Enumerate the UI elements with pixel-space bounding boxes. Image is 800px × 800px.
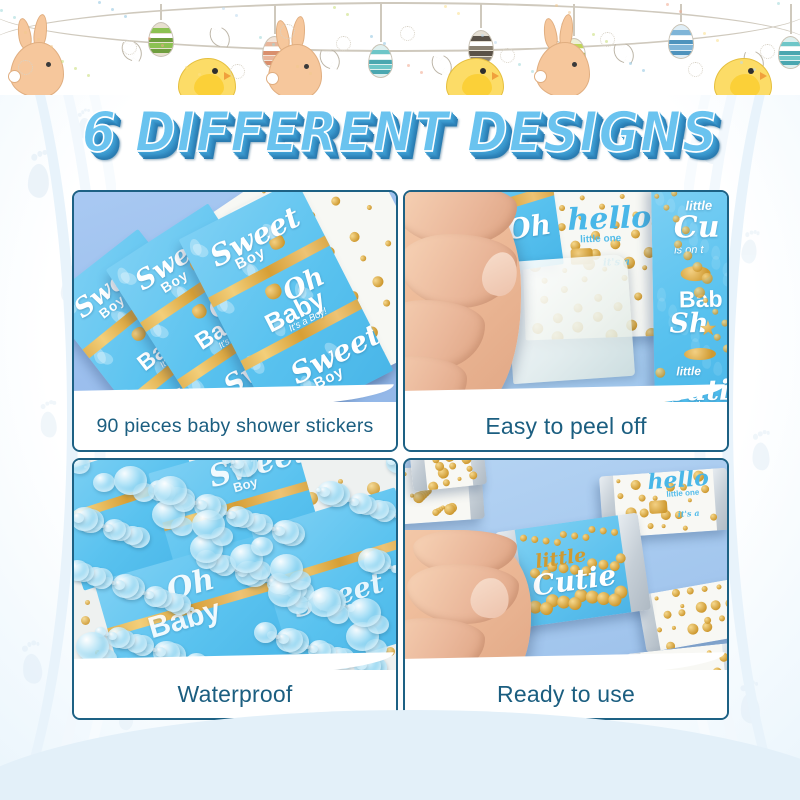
wrapped-candy-bar — [637, 577, 727, 653]
decor-dot — [568, 11, 571, 14]
water-droplet — [358, 548, 385, 573]
decor-dot — [37, 38, 40, 41]
decor-dot — [679, 10, 682, 13]
decor-dot — [716, 39, 719, 42]
egg-hanging-string — [380, 4, 382, 42]
flower-icon — [230, 64, 245, 79]
easter-banner — [0, 0, 800, 95]
decor-dot — [420, 71, 423, 74]
decor-dot — [592, 33, 595, 36]
decor-dot — [24, 31, 27, 34]
panel-pieces[interactable]: SweetBoyOhBabyIt's a Boy!SweetBoySweetBo… — [72, 190, 398, 452]
hand-holding-wrapped-candy-bar-photo: hellolittle oneit's alittleCutie — [405, 460, 727, 678]
decor-dot — [753, 68, 756, 71]
mustache-icon — [684, 348, 716, 361]
water-droplet-large — [154, 476, 187, 505]
water-droplet — [350, 498, 359, 506]
bottom-wave-decoration — [0, 680, 800, 800]
water-droplet-large — [192, 510, 225, 539]
page-title-wrap: 6 DIFFERENT DESIGNS — [0, 104, 800, 161]
water-droplet — [145, 591, 154, 599]
decor-dot — [259, 36, 262, 39]
bar-label — [423, 460, 474, 490]
chick-icon — [714, 58, 776, 95]
decor-dot — [222, 7, 225, 10]
egg-hanging-string — [480, 4, 482, 28]
easter-egg — [668, 24, 694, 59]
water-droplet-large — [270, 554, 303, 583]
panel-caption: Easy to peel off — [405, 402, 727, 450]
flower-icon — [122, 40, 137, 55]
decor-dot — [370, 35, 373, 38]
decor-dot — [161, 44, 164, 47]
sticker-word-little-one: little one — [580, 233, 621, 245]
flower-icon — [760, 44, 775, 59]
flower-icon — [280, 24, 295, 39]
easter-egg — [368, 44, 393, 78]
flower-icon — [336, 36, 351, 51]
egg-hanging-string — [680, 4, 682, 22]
easter-egg — [778, 36, 800, 69]
flower-icon — [400, 26, 415, 41]
sticker-word-hello: hello — [567, 200, 652, 238]
water-droplet — [316, 488, 321, 493]
water-droplet — [254, 622, 277, 643]
decor-dot — [457, 12, 460, 15]
fanned-sticker-sheets-photo: SweetBoyOhBabyIt's a Boy!SweetBoySweetBo… — [74, 192, 396, 410]
decor-dot — [740, 61, 743, 64]
egg-hanging-string — [573, 4, 575, 36]
decor-dot — [198, 73, 201, 76]
water-droplet-large — [114, 466, 147, 495]
decor-dot — [494, 41, 497, 44]
decor-dot — [703, 32, 706, 35]
page-title: 6 DIFFERENT DESIGNS — [82, 101, 718, 165]
panel-peel[interactable]: hellolittle oneit's alittleCuis on tBabS… — [403, 190, 729, 452]
peeled-backing-layer — [505, 254, 635, 384]
easter-egg — [148, 22, 174, 57]
water-droplet-large — [308, 588, 341, 617]
decor-dot — [185, 66, 188, 69]
water-droplet — [309, 645, 318, 653]
decor-dot — [531, 70, 534, 73]
decor-dot — [124, 15, 127, 18]
decor-dot — [309, 72, 312, 75]
bunny-icon — [536, 40, 598, 95]
decor-dot — [777, 2, 780, 5]
flower-icon — [500, 48, 515, 63]
decor-dot — [346, 13, 349, 16]
water-droplet — [227, 511, 236, 519]
decor-dot — [87, 74, 90, 77]
bunny-icon — [268, 42, 330, 95]
decor-dot — [296, 65, 299, 68]
sticker-baby-shower: littleCuis on tBabShlittlecutieis on the… — [651, 192, 727, 410]
sticker-word-cutie: Cu — [673, 210, 719, 246]
water-droplet-large — [348, 598, 381, 627]
egg-hanging-string — [790, 4, 792, 34]
decor-dot — [481, 34, 484, 37]
hand — [405, 192, 521, 410]
decor-dot — [111, 8, 114, 11]
decor-dot — [642, 69, 645, 72]
decor-dot — [74, 67, 77, 70]
decor-dot — [629, 62, 632, 65]
decor-dot — [0, 9, 3, 12]
decor-dot — [98, 1, 101, 4]
top-hat-icon — [649, 500, 668, 514]
water-droplet — [387, 460, 396, 465]
hand-peeling-sticker-photo: hellolittle oneit's alittleCuis on tBabS… — [405, 192, 727, 410]
egg-hanging-string — [160, 4, 162, 20]
sticker-word-little-one: little one — [666, 488, 699, 499]
decor-dot — [61, 60, 64, 63]
water-droplet — [108, 632, 117, 640]
bar-label: littleCutie — [515, 515, 632, 627]
flower-icon — [18, 60, 33, 75]
panel-caption: 90 pieces baby shower stickers — [74, 402, 396, 450]
decor-dot — [518, 63, 521, 66]
water-droplets-on-stickers-photo: SweetBoyOhBabySweet — [74, 460, 396, 678]
bar-label — [651, 579, 727, 650]
decor-dot — [333, 6, 336, 9]
water-droplet-large — [76, 632, 109, 661]
chick-icon — [178, 58, 240, 95]
decor-dot — [50, 45, 53, 48]
decor-dot — [148, 37, 151, 40]
flower-icon — [600, 32, 615, 47]
decor-dot — [383, 42, 386, 45]
sticker-word-shower: Sh — [669, 308, 709, 340]
decor-dot — [555, 4, 558, 7]
decor-dot — [13, 16, 16, 19]
water-droplet — [222, 460, 231, 464]
decor-dot — [272, 43, 275, 46]
feature-panel-grid: SweetBoyOhBabyIt's a Boy!SweetBoySweetBo… — [72, 190, 729, 725]
decor-dot — [407, 64, 410, 67]
water-droplet — [104, 524, 113, 532]
infographic-canvas: 6 DIFFERENT DESIGNS SweetBoyOhBabyIt's a… — [0, 0, 800, 800]
decor-dot — [235, 14, 238, 17]
chick-icon — [446, 58, 508, 95]
decor-dot — [666, 3, 669, 6]
water-droplet — [74, 513, 84, 523]
flower-icon — [688, 62, 703, 77]
sticker-word-itsa: it's a — [677, 508, 699, 519]
decor-dot — [444, 5, 447, 8]
